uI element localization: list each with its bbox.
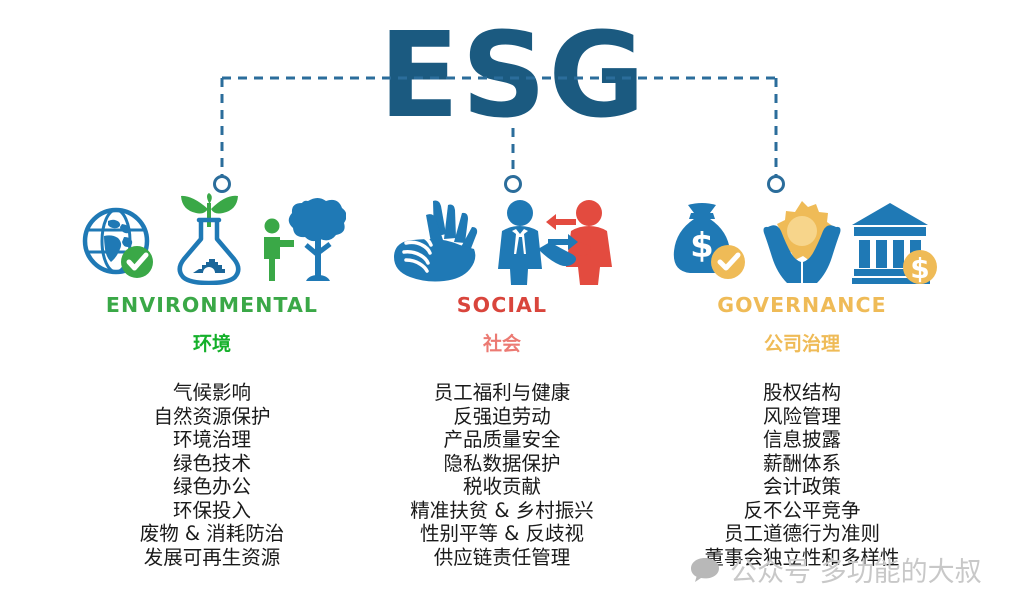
list-item: 隐私数据保护 [352, 452, 652, 476]
helping-hands-icon [386, 197, 486, 285]
list-item: 会计政策 [652, 475, 952, 499]
list-item: 税收贡献 [352, 475, 652, 499]
list-item: 环保投入 [62, 499, 362, 523]
list-item: 绿色技术 [62, 452, 362, 476]
governance-item-list: 股权结构 风险管理 信息披露 薪酬体系 会计政策 反不公平竞争 员工道德行为准则… [652, 381, 952, 569]
money-bag-check-icon: $ [666, 199, 752, 285]
list-item: 性别平等 & 反歧视 [352, 522, 652, 546]
flask-plant-icon [168, 193, 250, 285]
list-item: 绿色办公 [62, 475, 362, 499]
label-governance-en: GOVERNANCE [652, 293, 952, 317]
list-item: 反不公平竞争 [652, 499, 952, 523]
column-social: SOCIAL 社会 员工福利与健康 反强迫劳动 产品质量安全 隐私数据保护 税收… [352, 190, 652, 585]
watermark-text: 公众号 多功能的大叔 [730, 550, 982, 589]
list-item: 风险管理 [652, 405, 952, 429]
label-environmental-en: ENVIRONMENTAL [62, 293, 362, 317]
column-environmental: ENVIRONMENTAL 环境 气候影响 自然资源保护 环境治理 绿色技术 绿… [62, 190, 362, 585]
bank-coin-icon: $ [852, 199, 938, 285]
esg-infographic: ESG [0, 0, 1026, 591]
list-item: 反强迫劳动 [352, 405, 652, 429]
svg-text:$: $ [690, 226, 714, 266]
environmental-icon-row [62, 190, 362, 285]
handshake-exchange-icon [490, 197, 618, 285]
globe-check-icon [78, 203, 164, 285]
governance-icon-row: $ [652, 190, 952, 285]
list-item: 气候影响 [62, 381, 362, 405]
label-environmental-cn: 环境 [62, 329, 362, 356]
list-item: 自然资源保护 [62, 405, 362, 429]
list-item: 产品质量安全 [352, 428, 652, 452]
environmental-item-list: 气候影响 自然资源保护 环境治理 绿色技术 绿色办公 环保投入 废物 & 消耗防… [62, 381, 362, 569]
list-item: 发展可再生资源 [62, 546, 362, 570]
column-governance: $ [652, 190, 952, 585]
social-item-list: 员工福利与健康 反强迫劳动 产品质量安全 隐私数据保护 税收贡献 精准扶贫 & … [352, 381, 652, 569]
list-item: 薪酬体系 [652, 452, 952, 476]
label-social-cn: 社会 [352, 329, 652, 356]
svg-text:$: $ [910, 252, 929, 285]
speech-bubble-icon [690, 557, 720, 583]
list-item: 股权结构 [652, 381, 952, 405]
list-item: 供应链责任管理 [352, 546, 652, 570]
list-item: 员工道德行为准则 [652, 522, 952, 546]
list-item: 环境治理 [62, 428, 362, 452]
list-item: 信息披露 [652, 428, 952, 452]
label-governance-cn: 公司治理 [652, 329, 952, 356]
list-item: 精准扶贫 & 乡村振兴 [352, 499, 652, 523]
label-social-en: SOCIAL [352, 293, 652, 317]
list-item: 废物 & 消耗防治 [62, 522, 362, 546]
social-icon-row [352, 190, 652, 285]
connector-diagram [0, 0, 1026, 200]
watermark: 公众号 多功能的大叔 [690, 550, 982, 589]
hands-gear-icon [756, 199, 848, 285]
list-item: 员工福利与健康 [352, 381, 652, 405]
person-tree-icon [254, 193, 346, 285]
